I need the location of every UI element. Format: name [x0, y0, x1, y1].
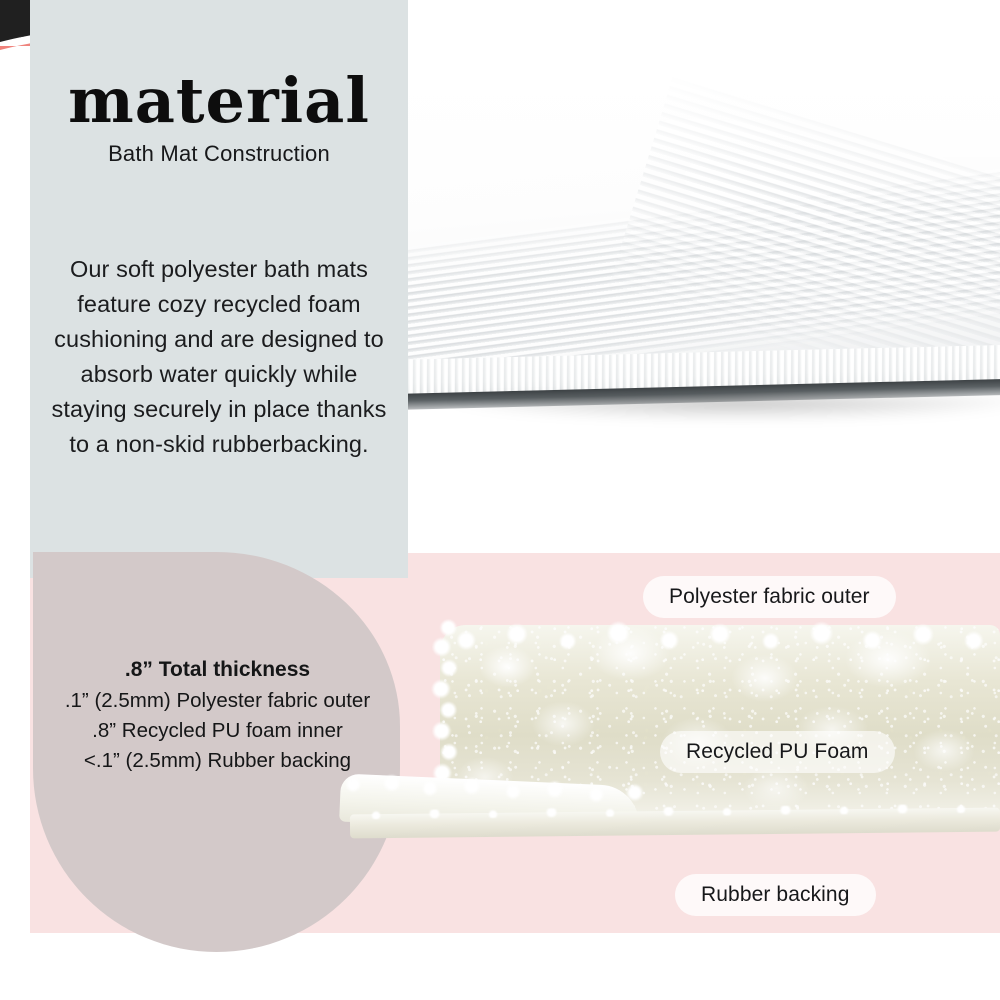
callout-polyester-fabric-outer: Polyester fabric outer: [643, 576, 896, 618]
spec-layer-backing: <.1” (2.5mm) Rubber backing: [40, 746, 395, 776]
infographic-canvas: material Bath Mat Construction Our soft …: [0, 0, 1000, 1000]
spec-layer-foam: .8” Recycled PU foam inner: [40, 716, 395, 746]
thickness-spec-block: .8” Total thickness .1” (2.5mm) Polyeste…: [40, 655, 395, 776]
page-title-group: material Bath Mat Construction: [30, 72, 408, 167]
intro-paragraph: Our soft polyester bath mats feature coz…: [40, 252, 398, 462]
page-title: material: [30, 72, 408, 131]
page-subtitle: Bath Mat Construction: [30, 141, 408, 167]
foam-left-fuzz: [428, 619, 462, 794]
mat-drop-shadow: [438, 396, 1000, 422]
callout-rubber-backing: Rubber backing: [675, 874, 876, 916]
bath-mat-photo: [408, 0, 1000, 553]
callout-recycled-pu-foam: Recycled PU Foam: [660, 731, 895, 773]
spec-layer-outer: .1” (2.5mm) Polyester fabric outer: [40, 686, 395, 716]
spec-total-thickness: .8” Total thickness: [40, 655, 395, 685]
